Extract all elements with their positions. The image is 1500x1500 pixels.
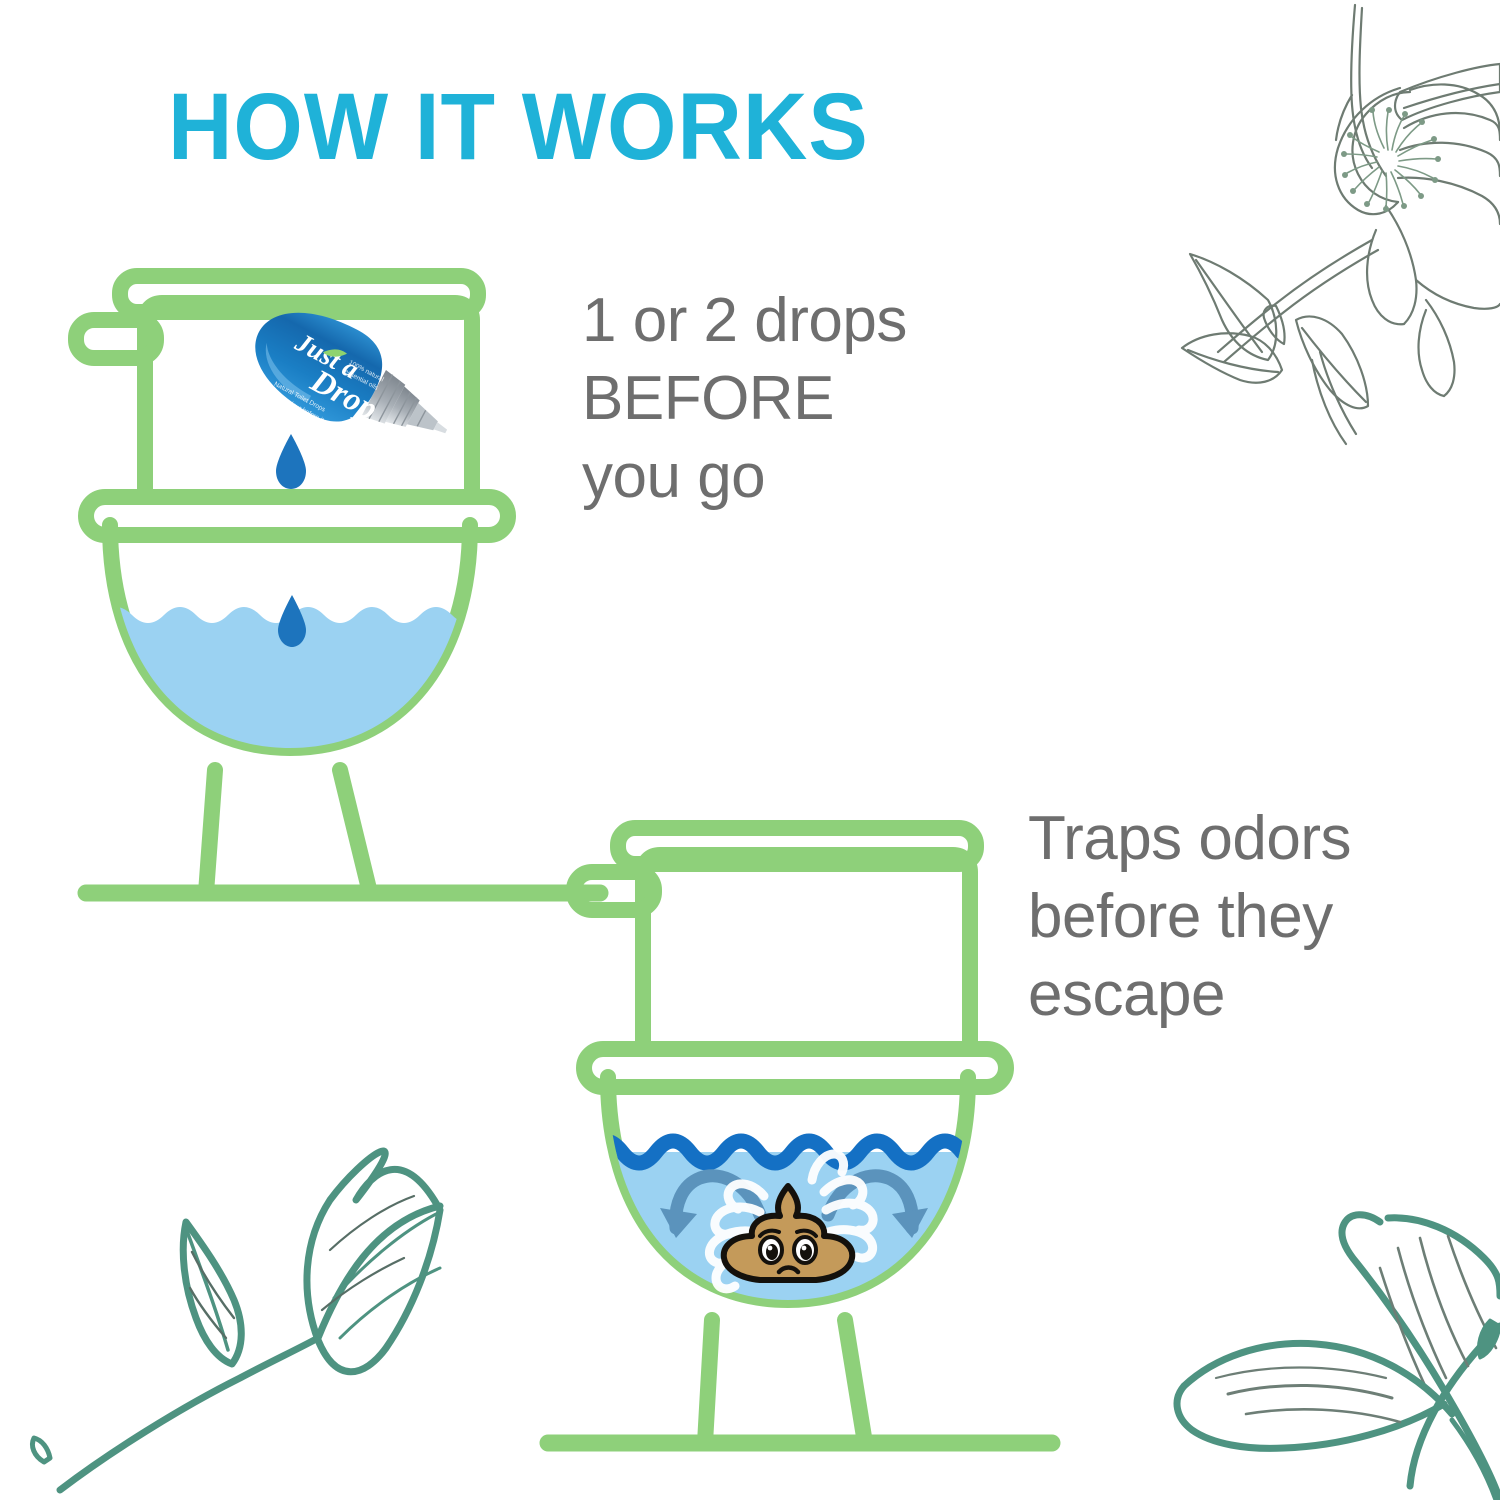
page-title: HOW IT WORKS	[168, 78, 869, 178]
pedestal-right-two	[845, 1320, 865, 1443]
tank-lid-two	[618, 828, 976, 864]
pedestal-left-two	[705, 1320, 712, 1443]
tank-body-two	[643, 855, 970, 1049]
step-one-caption: 1 or 2 drops BEFORE you go	[582, 282, 1052, 516]
toilet-two-illustration	[0, 0, 1500, 1500]
step-two-caption: Traps odors before they escape	[1028, 800, 1428, 1034]
infographic-canvas: Just a Drop Natural Toilet Drops Stops o…	[0, 0, 1500, 1500]
